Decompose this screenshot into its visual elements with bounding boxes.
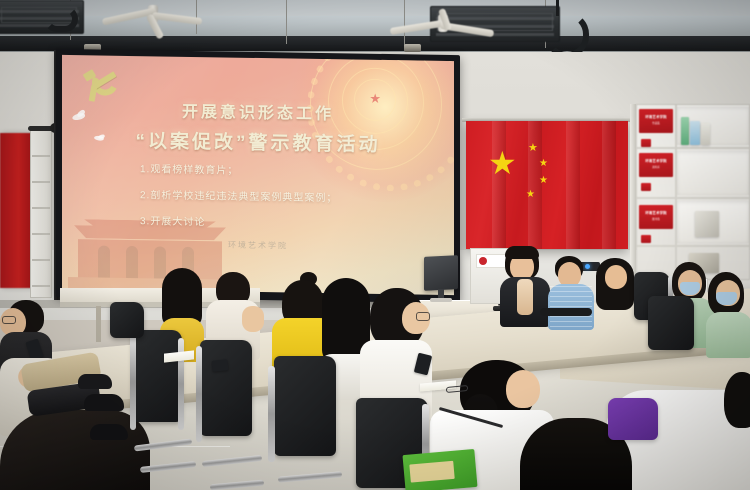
student-arm (242, 306, 264, 332)
smartphone[interactable] (211, 359, 228, 372)
shelf-divider (637, 245, 749, 247)
panelist-head (605, 265, 627, 289)
shelf-cell (677, 151, 749, 195)
shelf-divider (637, 197, 749, 199)
chair-frame (268, 366, 275, 462)
fan-blade (390, 20, 442, 35)
student-hair (0, 410, 150, 490)
shelf-card-sub: 作品集 (639, 121, 673, 125)
flag-small-star: ★ (539, 176, 548, 186)
flag-fold (602, 121, 616, 249)
ceiling-fan (398, 14, 488, 44)
office-chair (268, 356, 348, 490)
slide-title-line-2: “以案促改”警示教育活动 (62, 125, 454, 158)
office-chair (110, 296, 156, 356)
shelf-card-sub: 图书角 (639, 217, 673, 221)
chinese-national-flag: ★ ★ ★ ★ ★ (466, 121, 628, 249)
flag-fold (492, 121, 506, 249)
ac-duct-pipe (44, 6, 78, 32)
speaker-hair-front (505, 246, 539, 259)
flag-big-star: ★ (488, 147, 517, 179)
projection-screen: ★ 开展意识形态工作 “以案促改”警示教育活动 1.观看榜样教育片； 2 (62, 55, 454, 295)
chair-base (202, 455, 262, 467)
office-chair (540, 286, 596, 342)
chair-backrest (648, 296, 694, 350)
white-bookshelf: 环境艺术学院 作品集 环境艺术学院 资料库 环境艺术学院 图书角 (636, 104, 750, 280)
green-folder[interactable] (402, 449, 477, 490)
fan-blade (152, 12, 202, 25)
slide-bullet-item: 2.剖析学校违纪违法典型案例典型案例； (140, 186, 337, 204)
shelf-card-title: 环境艺术学院 (639, 210, 673, 215)
slide-bullet-item: 3.开展大讨论 (140, 212, 337, 230)
shelf-card-title: 环境艺术学院 (639, 114, 673, 119)
shelf-book (701, 123, 710, 145)
red-wall-banner (0, 133, 34, 288)
counter-leg (96, 306, 101, 342)
slide-bullet-list: 1.观看榜样教育片； 2.剖析学校违纪违法典型案例典型案例； 3.开展大讨论 (140, 160, 337, 241)
eyeglasses (416, 312, 430, 321)
shelf-label-tab (641, 139, 651, 147)
shelf-label-card: 环境艺术学院 作品集 (639, 109, 673, 133)
student-top (706, 312, 750, 358)
slide-bullet-item: 1.观看榜样教育片； (140, 160, 337, 178)
classroom-photo-scene: ★ 开展意识形态工作 “以案促改”警示教育活动 1.观看榜样教育片； 2 (0, 0, 750, 490)
tiananmen-gate (98, 245, 110, 279)
chair-base (134, 438, 192, 451)
shelf-book (681, 117, 689, 145)
speaker-inner-top (517, 279, 533, 315)
chair-backrest (274, 356, 336, 456)
shoe (84, 394, 124, 411)
chair-base (278, 471, 342, 483)
flag-fold (566, 121, 580, 249)
shoe (90, 424, 128, 440)
purple-bag (608, 398, 658, 440)
office-chair (196, 340, 266, 490)
shelf-card-sub: 资料库 (639, 165, 673, 169)
shelf-book (695, 211, 719, 237)
face-mask (716, 292, 737, 305)
chair-backrest (200, 340, 252, 436)
monitor-panel-back (424, 255, 458, 291)
tiananmen-gate (126, 246, 138, 280)
ceiling-wire (286, 0, 287, 44)
chair-base (210, 480, 264, 490)
shelf-label-tab (641, 183, 651, 191)
chair-frame (196, 346, 202, 442)
chair-backrest (110, 302, 144, 338)
chair-armrest (540, 308, 592, 316)
flag-small-star: ★ (539, 159, 548, 169)
shelf-book (690, 121, 700, 145)
flag-small-star: ★ (526, 190, 535, 200)
slide-title-line-1: 开展意识形态工作 (62, 96, 454, 126)
cabinet-logo-mark (479, 257, 487, 265)
face-mask (680, 282, 700, 295)
shelf-divider (637, 147, 749, 149)
person-student-right-2 (706, 272, 750, 352)
folder-label (409, 461, 454, 483)
left-wall-shelf (30, 128, 52, 298)
shelf-card-title: 环境艺术学院 (639, 158, 673, 163)
shelf-side-post (630, 104, 636, 284)
chair-base (140, 461, 196, 473)
ceiling-fan (108, 5, 198, 35)
flag-small-star: ★ (528, 143, 538, 154)
student-hair (724, 372, 750, 428)
student-head (506, 370, 540, 408)
eyeglasses (2, 316, 16, 324)
shelf-label-tab (641, 235, 651, 243)
shelf-label-card: 环境艺术学院 图书角 (639, 205, 673, 229)
shelf-label-card: 环境艺术学院 资料库 (639, 153, 673, 177)
screen-bracket (404, 44, 421, 52)
shoe (78, 374, 112, 389)
office-chair (648, 296, 708, 366)
ac-cable (556, 0, 559, 16)
